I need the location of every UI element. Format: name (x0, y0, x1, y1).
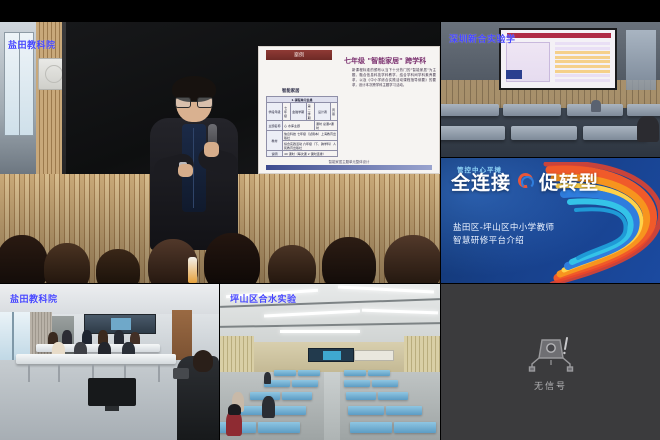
table-row: 学段年级 七年级 金融学期 第二学期 设计者 周丽 (267, 103, 338, 121)
panel-no-signal[interactable]: 无信号 (441, 284, 660, 440)
no-signal-camera-icon (528, 332, 574, 372)
divider-vertical-right (440, 22, 441, 440)
front-display-board (308, 348, 354, 362)
no-signal-text: 无信号 (528, 379, 574, 392)
presenter-right-hand (204, 142, 219, 157)
slide-title: 七年级 "智能家居" 跨学科 (344, 56, 426, 66)
cell: 第二学期 (306, 103, 314, 121)
cell: 综合实践活动 六年级（下、跨学科）人民教育出版社 (283, 141, 338, 151)
screen-right-column (555, 42, 610, 82)
cell: 教材 (267, 131, 283, 151)
projector-screen (499, 28, 617, 90)
audience-head (384, 235, 440, 283)
slide-paragraph: 新课程标准的颁布以当下十分热门的"智能家居"为主题，融合信息科技学科教学，结合学… (352, 68, 436, 88)
panel-bottom-mid-room[interactable]: 坪山区合水实验 (220, 284, 440, 440)
audience-head (268, 245, 316, 283)
audience-head (96, 249, 140, 283)
screen-title-bar (507, 33, 611, 38)
video-camera-icon (173, 368, 189, 379)
table-row: 说明 40 课时（每次课 2 课时连排） (267, 151, 338, 157)
cell: 40 课时（每次课 2 课时连排） (283, 151, 338, 157)
cell: 说明 (267, 151, 283, 157)
camera-label-bottom-mid: 坪山区合水实验 (230, 292, 297, 305)
no-signal-block: 无信号 (528, 332, 574, 392)
slide-red-tab: 案例 (266, 50, 332, 60)
cell: 七年级 (283, 103, 291, 121)
panel-main-speaker[interactable]: 案例 七年级 "智能家居" 跨学科 新课程标准的颁布以当下十分热门的"智能家居"… (0, 22, 440, 283)
connection-mark-icon (517, 172, 534, 189)
cell: 学段年级 (267, 103, 283, 121)
slide-table: 1.课程单元信息 学段年级 七年级 金融学期 第二学期 设计者 周丽 主题名称 … (266, 96, 338, 157)
screen-badge (506, 70, 522, 79)
panel-top-right-room[interactable]: 深圳新合实验学 (441, 22, 660, 158)
chalkboard-frame (62, 22, 66, 174)
banner-subtitle-line1: 盐田区-坪山区中小学教师 (453, 222, 554, 235)
center-aisle (324, 372, 340, 440)
divider-horizontal (0, 283, 660, 284)
cell: 课时 总课2课时 (315, 121, 338, 131)
broadcast-grid: 案例 七年级 "智能家居" 跨学科 新课程标准的颁布以当下十分热门的"智能家居"… (0, 0, 660, 440)
presentation-slide: 案例 七年级 "智能家居" 跨学科 新课程标准的颁布以当下十分热门的"智能家居"… (258, 46, 440, 174)
cell: 设计者 (315, 103, 331, 121)
floor-monitor (88, 378, 136, 406)
banner-headline-left: 全连接 (451, 168, 511, 195)
camera-operator-head (193, 350, 213, 372)
cell: 心 水库主题 (283, 121, 315, 131)
table-row: 教材 信息科技 七年级（试用本）上海教育出版社 (267, 131, 338, 141)
window-mullion (12, 312, 14, 364)
letterbox-top (0, 0, 660, 22)
panel-bottom-left-room[interactable]: 盐田教科院 (0, 284, 219, 440)
audience-head (44, 243, 90, 283)
divider-right-inner (441, 157, 660, 158)
audience-head (0, 235, 48, 283)
banner-headline-right: 促转型 (539, 168, 599, 195)
cell: 主题名称 (267, 121, 283, 131)
camera-label-main: 盐田教科院 (8, 38, 56, 51)
camera-label-top-right: 深圳新合实验学 (449, 32, 516, 45)
audience-head (322, 237, 376, 283)
slide-footer-bar (266, 165, 432, 170)
camera-label-bottom-left: 盐田教科院 (10, 292, 58, 305)
slide-footer-note: 智能家居主题单元整体设计 (329, 159, 370, 164)
water-bottle (188, 257, 197, 283)
whiteboard (354, 350, 394, 361)
desk-rows (441, 100, 660, 158)
presenter-left-hand (178, 164, 193, 177)
cell: 信息科技 七年级（试用本）上海教育出版社 (283, 131, 338, 141)
banner-subtitle-line2: 智慧研修平台介绍 (453, 235, 524, 248)
audience-head (204, 233, 260, 283)
ceiling-light (280, 330, 360, 333)
divider-vertical-bottom (219, 284, 220, 440)
table-row: 主题名称 心 水库主题 课时 总课2课时 (267, 121, 338, 131)
side-window (626, 30, 656, 90)
slide-red-tab-label: 案例 (294, 52, 304, 59)
audience-row (0, 221, 440, 283)
glasses-icon (175, 97, 213, 106)
cell: 金融学期 (290, 103, 306, 121)
cell: 周丽 (331, 103, 338, 121)
slide-table-caption: 智能家居 (282, 88, 300, 94)
panel-promo-banner[interactable]: 管控中心平摊 全连接 促转型 盐田区-坪山区中小学教师 智慧研修平台介绍 (441, 158, 660, 283)
